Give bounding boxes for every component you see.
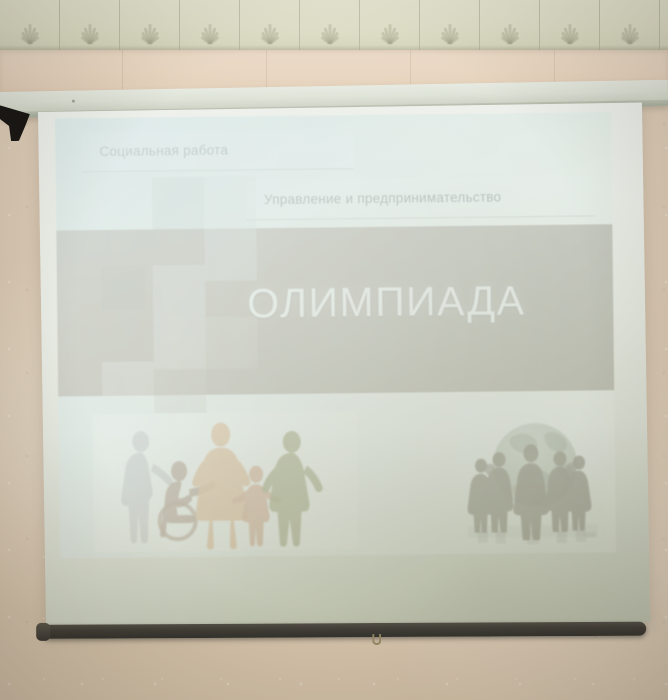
palmette-ornament-icon — [68, 10, 112, 44]
palmette-ornament-icon — [548, 10, 592, 44]
palmette-ornament-icon — [488, 10, 532, 44]
palmette-ornament-icon — [428, 10, 472, 44]
palmette-ornament-icon — [248, 10, 292, 44]
palmette-ornament-icon — [128, 10, 172, 44]
projection-screen: Социальная работа Управление и предприни… — [38, 103, 650, 632]
cornice-tile — [240, 0, 300, 52]
cornice-tile — [660, 0, 668, 52]
cornice-tile — [360, 0, 420, 52]
cornice-tile — [480, 0, 540, 52]
palmette-ornament-icon — [308, 10, 352, 44]
palmette-ornament-icon — [188, 10, 232, 44]
cornice-tile — [600, 0, 660, 52]
cornice-tile — [60, 0, 120, 52]
cornice-tile — [180, 0, 240, 52]
cornice-tile — [120, 0, 180, 52]
screen-pull-hook-icon — [372, 634, 381, 645]
slide-projection-glow — [55, 112, 616, 558]
palmette-ornament-icon — [8, 10, 52, 44]
cornice-tile — [420, 0, 480, 52]
ceiling-cornice-molding — [0, 0, 668, 52]
cornice-tile — [0, 0, 60, 52]
palmette-ornament-icon — [608, 10, 652, 44]
palmette-ornament-icon — [368, 10, 412, 44]
cornice-tile — [540, 0, 600, 52]
cornice-tile — [300, 0, 360, 52]
bar-end-cap — [36, 623, 50, 641]
roller-screw — [72, 100, 75, 103]
room-scene: Социальная работа Управление и предприни… — [0, 0, 668, 700]
projected-slide: Социальная работа Управление и предприни… — [55, 112, 616, 558]
